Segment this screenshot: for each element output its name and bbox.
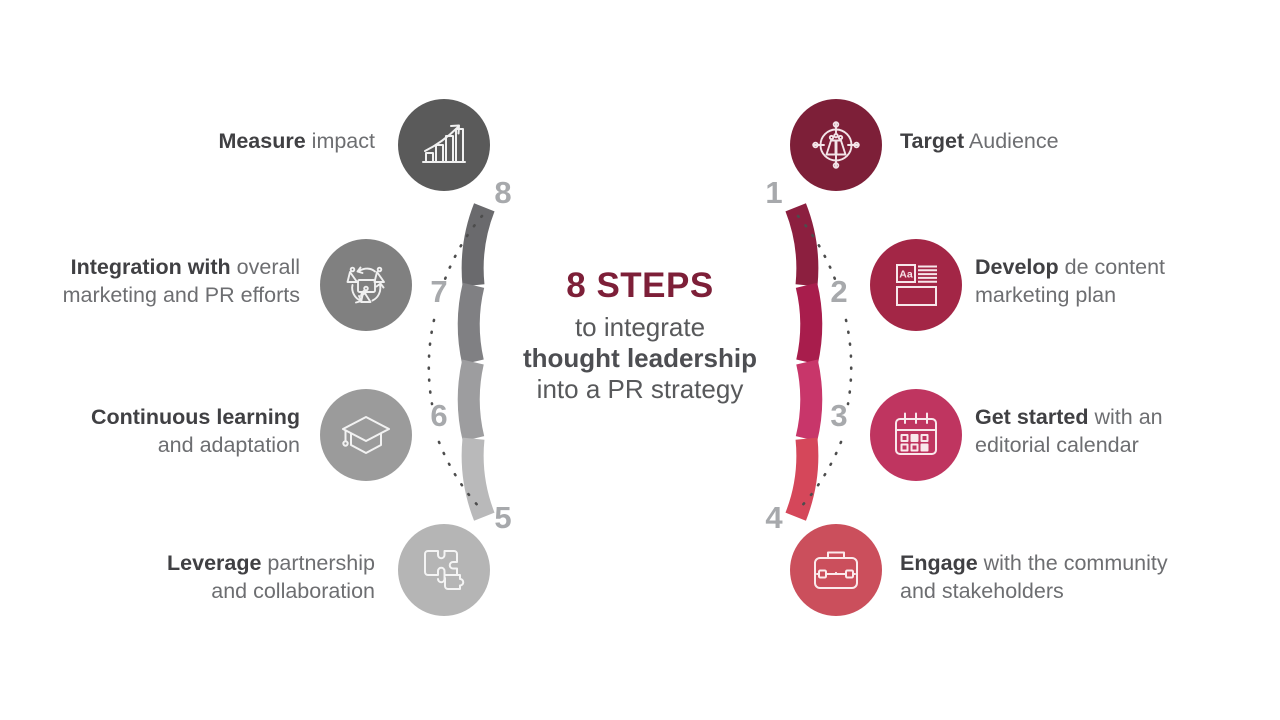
growth-chart-icon [418, 120, 470, 170]
step-icon-circle-4[interactable] [790, 524, 882, 616]
briefcase-icon [810, 546, 862, 594]
step-number-6: 6 [422, 400, 456, 431]
step-label-4-line2: and stakeholders [900, 577, 1240, 605]
step-number-4: 4 [757, 502, 791, 533]
arc-segment-1 [796, 207, 808, 285]
step-label-1-rest: Audience [964, 129, 1058, 153]
step-label-4-bold: Engage [900, 551, 978, 575]
step-label-5-line2: and collaboration [75, 577, 375, 605]
step-icon-circle-6[interactable] [320, 389, 412, 481]
arc-segment-3 [807, 362, 812, 439]
step-label-2: Develop de content marketing plan [975, 253, 1250, 310]
step-label-3-line2: editorial calendar [975, 431, 1250, 459]
step-icon-circle-1[interactable] [790, 99, 882, 191]
dotted-connector-7 [429, 320, 434, 404]
step-label-7-rest: overall [231, 255, 300, 279]
step-icon-circle-3[interactable] [870, 389, 962, 481]
step-label-6-line2: and adaptation [20, 431, 300, 459]
step-number-7: 7 [422, 276, 456, 307]
step-icon-circle-7[interactable] [320, 239, 412, 331]
step-number-8: 8 [486, 177, 520, 208]
step-icon-circle-8[interactable] [398, 99, 490, 191]
center-line-4: into a PR strategy [490, 376, 790, 402]
step-label-5-rest: partnership [261, 551, 375, 575]
content-document-icon: Aa [889, 259, 943, 311]
step-icon-circle-5[interactable] [398, 524, 490, 616]
step-label-1-bold: Target [900, 129, 964, 153]
graduation-cap-icon [339, 411, 393, 459]
step-label-8-rest: impact [306, 129, 375, 153]
calendar-icon [890, 409, 942, 461]
center-text-block: 8 STEPS to integrate thought leadership … [490, 268, 790, 402]
arc-segment-4 [796, 439, 808, 517]
step-label-8: Measure impact [60, 127, 375, 155]
center-line-3: thought leadership [490, 345, 790, 371]
step-label-8-bold: Measure [218, 129, 305, 153]
step-label-3-rest: with an [1089, 405, 1163, 429]
step-label-7-bold: Integration with [71, 255, 231, 279]
step-label-6-bold: Continuous learning [91, 405, 300, 429]
arc-segment-8 [473, 207, 485, 285]
step-label-6: Continuous learning and adaptation [20, 403, 300, 460]
step-icon-circle-2[interactable]: Aa [870, 239, 962, 331]
dotted-connector-2 [846, 320, 851, 404]
step-label-5-bold: Leverage [167, 551, 261, 575]
step-number-5: 5 [486, 502, 520, 533]
step-label-7-line2: marketing and PR efforts [20, 281, 300, 309]
puzzle-icon [418, 544, 470, 596]
step-number-1: 1 [757, 177, 791, 208]
step-label-4-rest: with the community [978, 551, 1168, 575]
arc-segment-6 [469, 362, 474, 439]
step-number-2: 2 [822, 276, 856, 307]
collaboration-cycle-icon [339, 258, 393, 312]
right-arc-group [796, 207, 812, 516]
arc-segment-2 [807, 285, 812, 362]
center-line-2: to integrate [490, 314, 790, 340]
step-number-3: 3 [822, 400, 856, 431]
arc-segment-5 [473, 439, 485, 517]
target-audience-icon [809, 118, 863, 172]
svg-text:Aa: Aa [899, 269, 913, 281]
step-label-3-bold: Get started [975, 405, 1089, 429]
step-label-1: Target Audience [900, 127, 1230, 155]
step-label-2-bold: Develop [975, 255, 1059, 279]
step-label-3: Get started with an editorial calendar [975, 403, 1250, 460]
step-label-2-line2: marketing plan [975, 281, 1250, 309]
infographic-canvas: 8 STEPS to integrate thought leadership … [0, 0, 1280, 720]
step-label-2-rest: de content [1059, 255, 1165, 279]
step-label-5: Leverage partnership and collaboration [75, 549, 375, 606]
arc-segment-7 [469, 285, 474, 362]
step-label-4: Engage with the community and stakeholde… [900, 549, 1240, 606]
left-arc-group [469, 207, 485, 516]
step-label-7: Integration with overall marketing and P… [20, 253, 300, 310]
center-title: 8 STEPS [490, 268, 790, 303]
